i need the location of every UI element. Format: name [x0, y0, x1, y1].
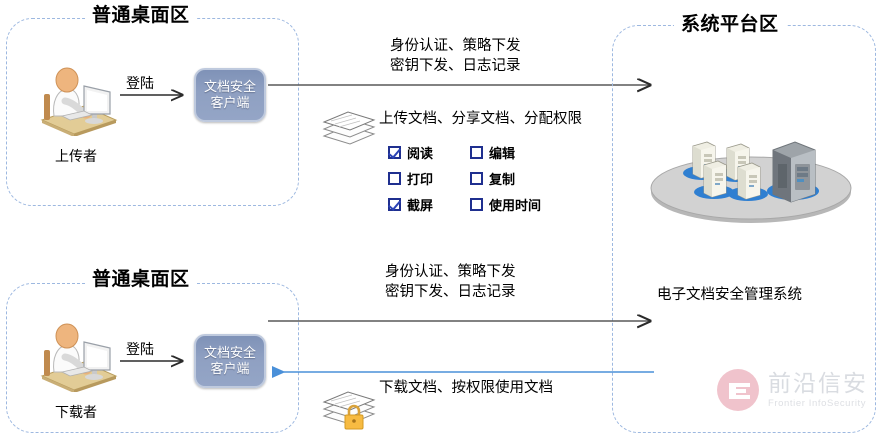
- control-arrow-bottom: [268, 314, 658, 328]
- client-box-top-line2: 客户端: [210, 95, 249, 111]
- permission-label-print: 打印: [407, 169, 433, 188]
- permission-label-read: 阅读: [407, 143, 433, 162]
- permission-item-usage-time[interactable]: 使用时间: [470, 195, 541, 214]
- control-text-top-line2: 密钥下发、日志记录: [390, 56, 521, 76]
- permission-item-read[interactable]: 阅读: [388, 143, 460, 162]
- control-arrow-top: [268, 78, 658, 92]
- brand-logo: 前沿信安 Frontier InfoSecurity: [716, 368, 868, 412]
- checkbox-usage-time[interactable]: [470, 198, 483, 211]
- permission-label-edit: 编辑: [489, 143, 515, 162]
- actor-label-downloader: 下载者: [46, 402, 106, 422]
- diagram-canvas: 普通桌面区 上传者 登陆: [0, 0, 882, 444]
- control-text-bottom-line1: 身份认证、策略下发: [385, 262, 516, 282]
- permission-label-screenshot: 截屏: [407, 195, 433, 214]
- system-caption: 电子文档安全管理系统: [657, 283, 802, 304]
- actor-label-uploader: 上传者: [46, 146, 106, 166]
- data-action-text-top: 上传文档、分享文档、分配权限: [379, 109, 582, 129]
- checkbox-read[interactable]: [388, 146, 401, 159]
- brand-text: 前沿信安 Frontier InfoSecurity: [768, 372, 868, 409]
- data-action-text-bottom: 下载文档、按权限使用文档: [379, 378, 553, 398]
- brand-name-cn: 前沿信安: [768, 372, 868, 395]
- checkbox-copy[interactable]: [470, 172, 483, 185]
- client-box-top[interactable]: 文档安全 客户端: [194, 68, 266, 122]
- login-arrow-top: [120, 88, 190, 102]
- permission-label-copy: 复制: [489, 169, 515, 188]
- person-at-desk-icon-bottom: [32, 314, 118, 392]
- brand-logo-icon: [716, 368, 760, 412]
- permission-checkbox-grid[interactable]: 阅读 编辑 打印 复制 截屏 使用时间: [388, 143, 541, 214]
- permission-item-edit[interactable]: 编辑: [470, 143, 541, 162]
- document-stack-locked-icon: [318, 378, 384, 437]
- download-return-arrow: [278, 365, 658, 379]
- brand-name-en: Frontier InfoSecurity: [768, 399, 868, 409]
- checkbox-screenshot[interactable]: [388, 198, 401, 211]
- zone-bottom-desktop-title: 普通桌面区: [85, 269, 197, 291]
- zone-top-desktop-title: 普通桌面区: [85, 5, 197, 27]
- zone-system-platform-title: 系统平台区: [674, 14, 786, 36]
- permission-label-usage-time: 使用时间: [489, 195, 541, 214]
- client-box-top-line1: 文档安全: [204, 79, 256, 95]
- client-box-bottom-line1: 文档安全: [204, 345, 256, 361]
- client-box-bottom[interactable]: 文档安全 客户端: [194, 334, 266, 388]
- checkbox-print[interactable]: [388, 172, 401, 185]
- client-box-bottom-line2: 客户端: [210, 361, 249, 377]
- login-arrow-bottom: [120, 354, 190, 368]
- control-text-bottom-line2: 密钥下发、日志记录: [385, 282, 516, 302]
- control-text-top-line1: 身份认证、策略下发: [390, 36, 521, 56]
- permission-item-copy[interactable]: 复制: [470, 169, 541, 188]
- server-cluster-icon: [645, 132, 857, 233]
- permission-item-screenshot[interactable]: 截屏: [388, 195, 460, 214]
- person-at-desk-icon: [32, 58, 118, 136]
- checkbox-edit[interactable]: [470, 146, 483, 159]
- permission-item-print[interactable]: 打印: [388, 169, 460, 188]
- document-stack-icon: [318, 98, 380, 151]
